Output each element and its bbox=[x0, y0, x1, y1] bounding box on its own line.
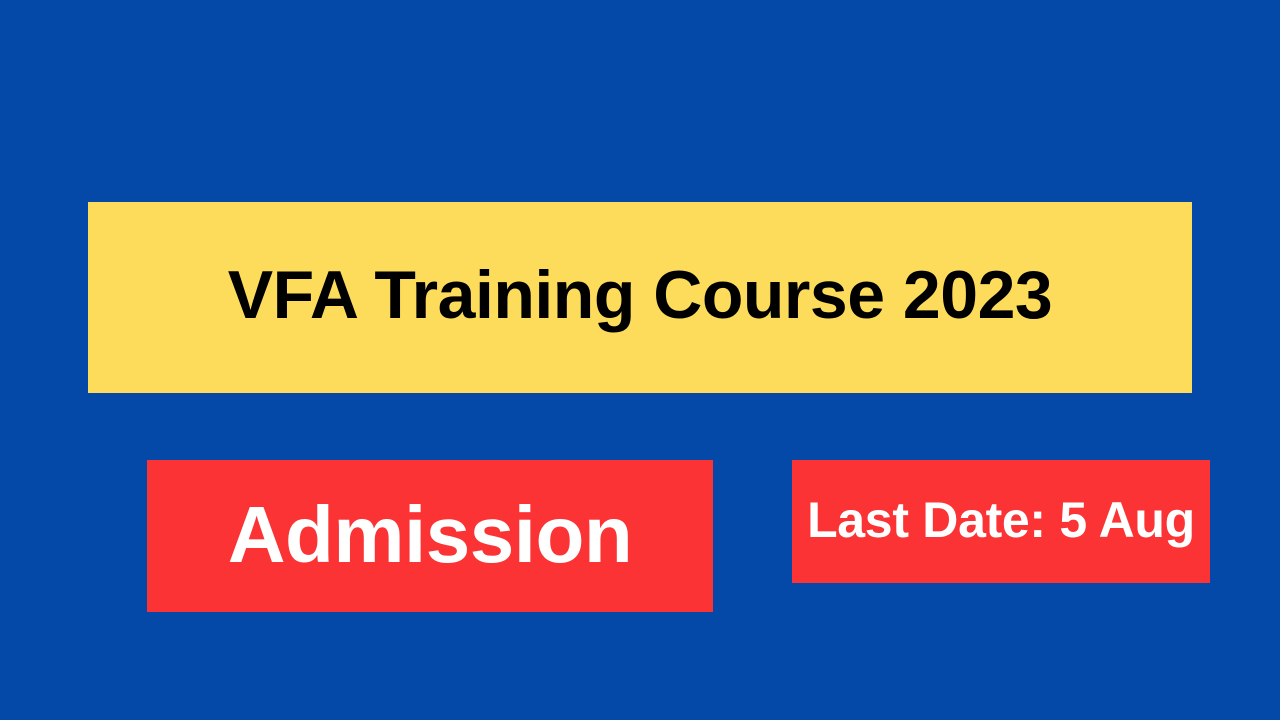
last-date-badge[interactable]: Last Date: 5 Aug bbox=[792, 460, 1210, 583]
title-banner: VFA Training Course 2023 bbox=[88, 202, 1192, 393]
admission-badge[interactable]: Admission bbox=[147, 460, 713, 612]
page-title: VFA Training Course 2023 bbox=[228, 260, 1052, 331]
poster-canvas: VFA Training Course 2023 Admission Last … bbox=[0, 0, 1280, 720]
admission-badge-label: Admission bbox=[228, 493, 632, 577]
last-date-badge-label: Last Date: 5 Aug bbox=[807, 494, 1195, 547]
